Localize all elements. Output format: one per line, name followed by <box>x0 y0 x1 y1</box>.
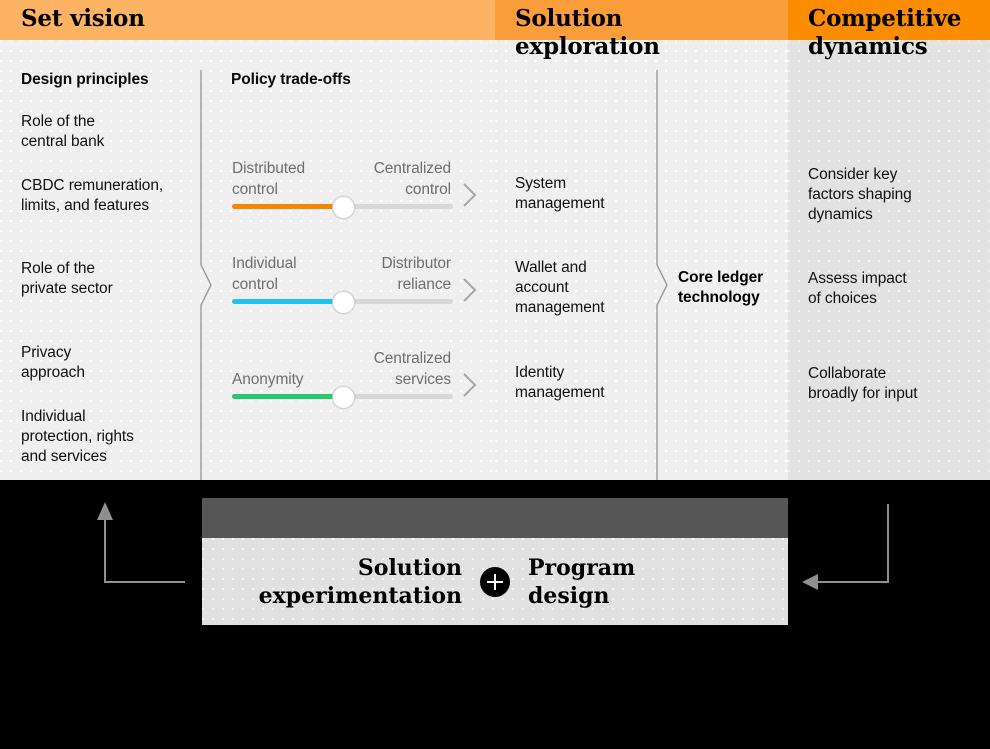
chevron-right-icon[interactable] <box>461 275 479 310</box>
panel-title-solution-exploration: Solution exploration <box>515 5 745 61</box>
list-item: Role of the private sector <box>21 259 113 299</box>
slider-fill <box>232 204 342 209</box>
policy-tradeoff-slider-distributed-centralized[interactable]: Distributed control Centralized control <box>231 158 481 202</box>
slider-thumb[interactable] <box>332 196 355 219</box>
panel-title-set-vision: Set vision <box>21 5 145 33</box>
bottom-box-header-bar <box>202 498 788 538</box>
chevron-right-icon[interactable] <box>461 180 479 215</box>
list-item: Wallet and account management <box>515 258 604 318</box>
panel-title-competitive-dynamics: Competitive dynamics <box>808 5 988 61</box>
column-heading-policy-tradeoffs: Policy trade-offs <box>231 71 351 89</box>
column-heading-design-principles: Design principles <box>21 71 149 89</box>
slider-track[interactable] <box>232 204 453 209</box>
infographic-canvas: Set vision Solution exploration Competit… <box>0 0 990 749</box>
list-item: Role of the central bank <box>21 112 104 152</box>
divider-with-chevron-left <box>190 70 214 480</box>
list-item: CBDC remuneration, limits, and features <box>21 176 163 216</box>
list-item: Collaborate broadly for input <box>808 364 917 404</box>
slider-track[interactable] <box>232 299 453 304</box>
list-item: System management <box>515 174 604 214</box>
panel-competitive-dynamics <box>788 40 990 480</box>
bottom-label-program-design: Program design <box>528 554 744 610</box>
policy-tradeoff-slider-anonymity-centralized[interactable]: Anonymity Centralized services <box>231 348 481 392</box>
slider-thumb[interactable] <box>332 291 355 314</box>
callout-core-ledger-technology: Core ledger technology <box>678 268 763 308</box>
slider-track[interactable] <box>232 394 453 399</box>
slider-right-label: Centralized control <box>321 158 451 200</box>
slider-thumb[interactable] <box>332 386 355 409</box>
return-arrow-right-icon <box>800 498 900 598</box>
list-item: Assess impact of choices <box>808 269 907 309</box>
list-item: Identity management <box>515 363 604 403</box>
slider-right-label: Centralized services <box>321 348 451 390</box>
plus-icon <box>480 567 510 597</box>
policy-tradeoff-slider-individual-distributor[interactable]: Individual control Distributor reliance <box>231 253 481 297</box>
return-arrow-left-icon <box>95 498 195 598</box>
bottom-label-solution-experimentation: Solution experimentation <box>246 554 462 610</box>
chevron-right-icon[interactable] <box>461 370 479 405</box>
divider-with-chevron-middle <box>646 70 670 480</box>
list-item: Individual protection, rights and servic… <box>21 407 134 467</box>
list-item: Privacy approach <box>21 343 85 383</box>
slider-right-label: Distributor reliance <box>321 253 451 295</box>
list-item: Consider key factors shaping dynamics <box>808 165 912 225</box>
slider-fill <box>232 394 342 399</box>
slider-fill <box>232 299 342 304</box>
bottom-stage-box: Solution experimentation Program design <box>202 498 788 625</box>
bottom-box-body: Solution experimentation Program design <box>202 538 788 625</box>
